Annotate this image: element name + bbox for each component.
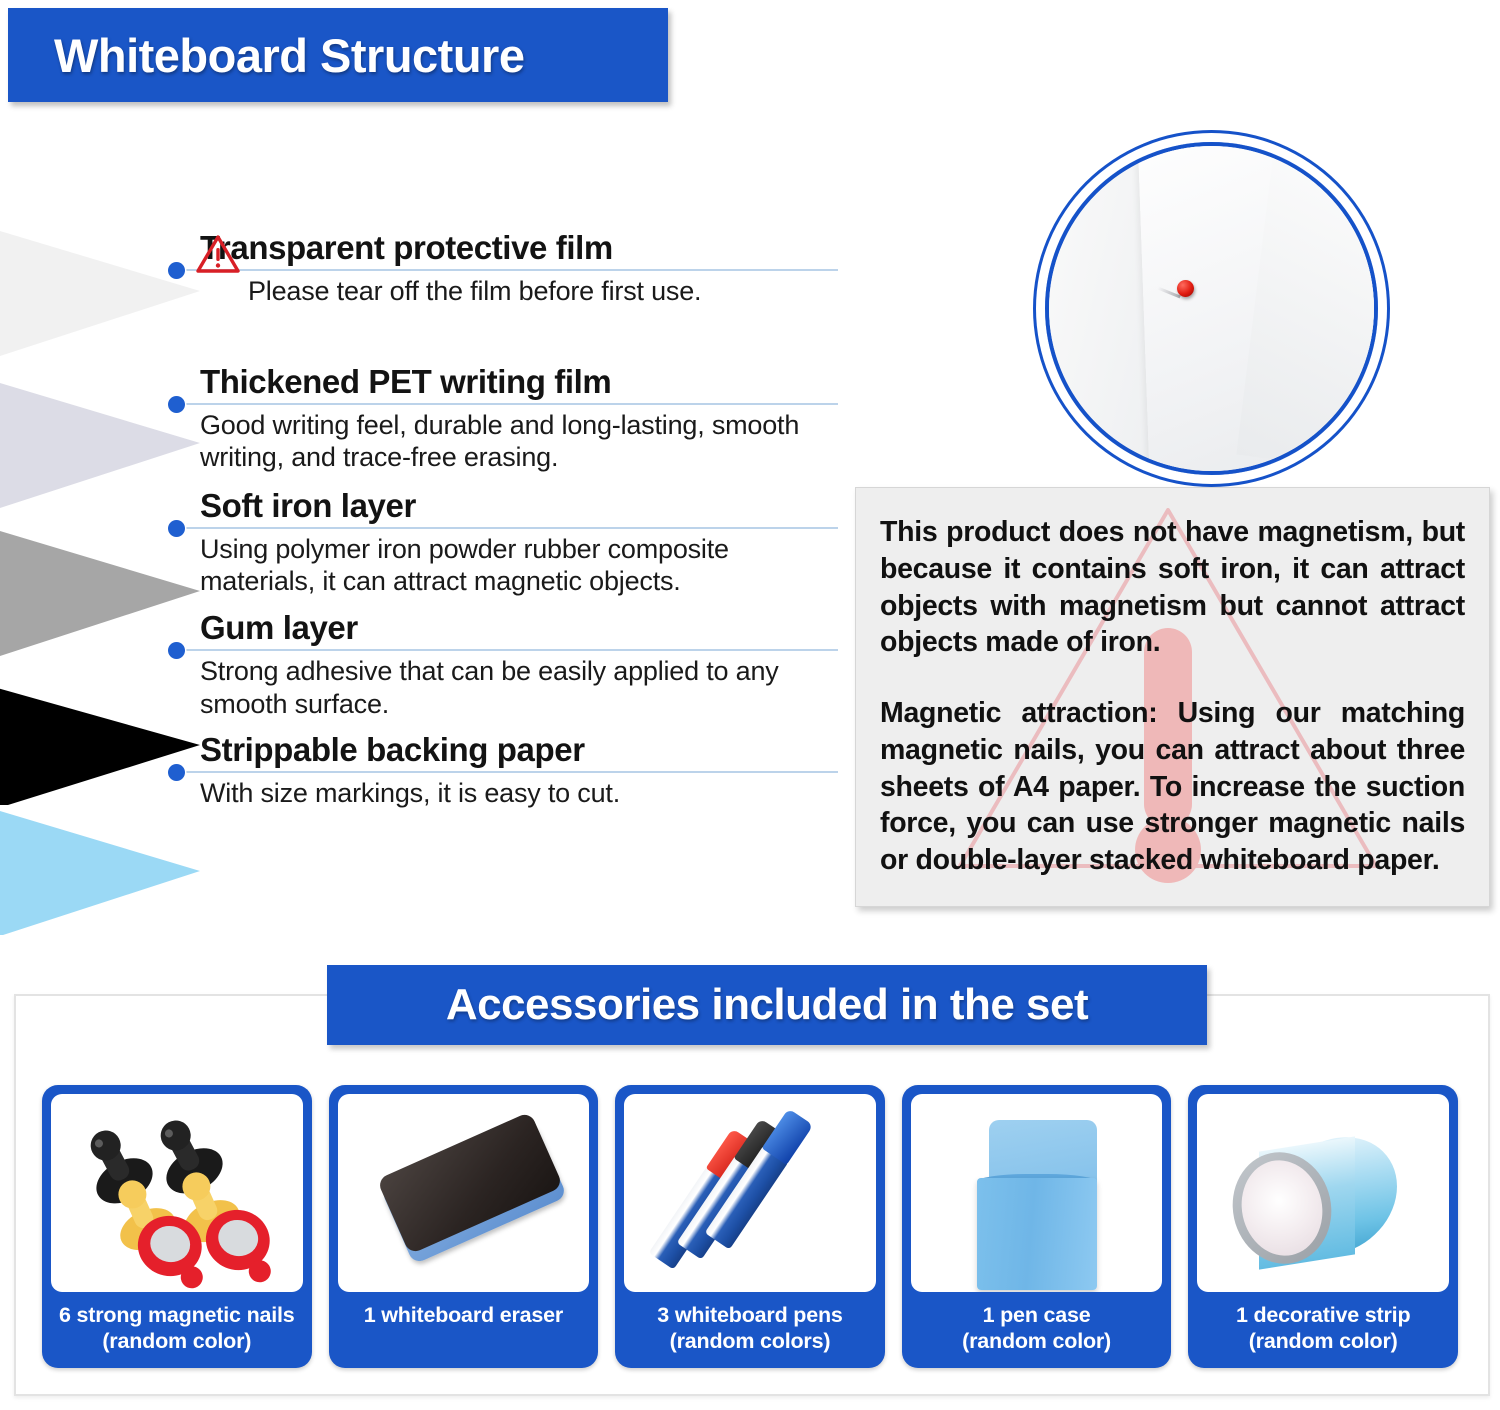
magnetic-nails-icon [51,1094,303,1292]
accessories-card-list: 6 strong magnetic nails (random color) 1… [42,1085,1458,1368]
layer-item: Gum layer Strong adhesive that can be ea… [160,610,850,720]
layer-item: Soft iron layer Using polymer iron powde… [160,488,850,598]
magnetism-info-panel: This product does not have magnetism, bu… [855,487,1490,907]
layer-divider [186,269,838,271]
accessory-caption-line2: (random colors) [628,1329,872,1355]
accessory-caption-line1: 1 pen case [915,1303,1159,1329]
accessory-caption: 6 strong magnetic nails (random color) [51,1292,303,1368]
layer-bullet-dot [168,520,185,537]
accessory-card-whiteboard-pens[interactable]: 3 whiteboard pens (random colors) [615,1085,885,1368]
magnetism-paragraph-1: This product does not have magnetism, bu… [856,488,1489,661]
accessory-caption-line2: (random color) [915,1329,1159,1355]
layer-divider [186,527,838,529]
accessory-caption-line1: 1 whiteboard eraser [342,1303,586,1329]
red-magnetic-pin-icon [1177,280,1194,297]
accessory-card-magnetic-nails[interactable]: 6 strong magnetic nails (random color) [42,1085,312,1368]
accessory-caption: 1 decorative strip (random color) [1197,1292,1449,1368]
accessory-card-whiteboard-eraser[interactable]: 1 whiteboard eraser [329,1085,599,1368]
layer-list: Transparent protective film Please tear … [160,230,850,810]
layer-description: Please tear off the film before first us… [248,275,850,308]
magnetic-nails-art [51,1094,303,1292]
accessory-caption-line2: (random color) [1201,1329,1445,1355]
layer-divider [186,403,838,405]
pen-case-icon [911,1094,1163,1292]
layer-title: Soft iron layer [200,488,850,525]
accessory-caption: 1 pen case (random color) [911,1292,1163,1368]
layer-title: Thickened PET writing film [200,364,850,401]
layer-description: Strong adhesive that can be easily appli… [200,655,850,720]
layer-description: Using polymer iron powder rubber composi… [200,533,850,598]
layer-bullet-dot [168,262,185,279]
accessory-caption-line2: (random color) [55,1329,299,1355]
accessory-card-pen-case[interactable]: 1 pen case (random color) [902,1085,1172,1368]
layer-bullet-dot [168,764,185,781]
accessories-title: Accessories included in the set [446,980,1088,1030]
whiteboard-eraser-icon [338,1094,590,1292]
layer-bullet-dot [168,396,185,413]
layer-title: Strippable backing paper [200,732,850,769]
accessory-caption-line1: 6 strong magnetic nails [55,1303,299,1329]
layer-divider [186,771,838,773]
layer-item: Transparent protective film Please tear … [160,230,850,308]
pen-case-body [977,1178,1097,1290]
accessory-caption-line1: 3 whiteboard pens [628,1303,872,1329]
accessories-banner: Accessories included in the set [327,965,1207,1045]
page-title: Whiteboard Structure [54,28,524,83]
accessory-caption-line1: 1 decorative strip [1201,1303,1445,1329]
layer-item: Strippable backing paper With size marki… [160,732,850,810]
layer-divider [186,649,838,651]
magnetic-pin-photo [1045,142,1378,475]
warning-triangle-icon [196,234,240,274]
whiteboard-pens-icon [624,1094,876,1292]
magnetism-paragraph-2: Magnetic attraction: Using our matching … [856,661,1489,879]
layer-item: Thickened PET writing film Good writing … [160,364,850,474]
layer-bullet-dot [168,642,185,659]
layer-title: Gum layer [200,610,850,647]
layer-title: Transparent protective film [200,230,850,267]
layer-description: Good writing feel, durable and long-last… [200,409,850,474]
accessory-card-decorative-strip[interactable]: 1 decorative strip (random color) [1188,1085,1458,1368]
layer-description: With size markings, it is easy to cut. [200,777,850,810]
page-title-banner: Whiteboard Structure [8,8,668,102]
accessory-caption: 3 whiteboard pens (random colors) [624,1292,876,1368]
decorative-strip-icon [1197,1094,1449,1292]
accessory-caption: 1 whiteboard eraser [338,1292,590,1342]
